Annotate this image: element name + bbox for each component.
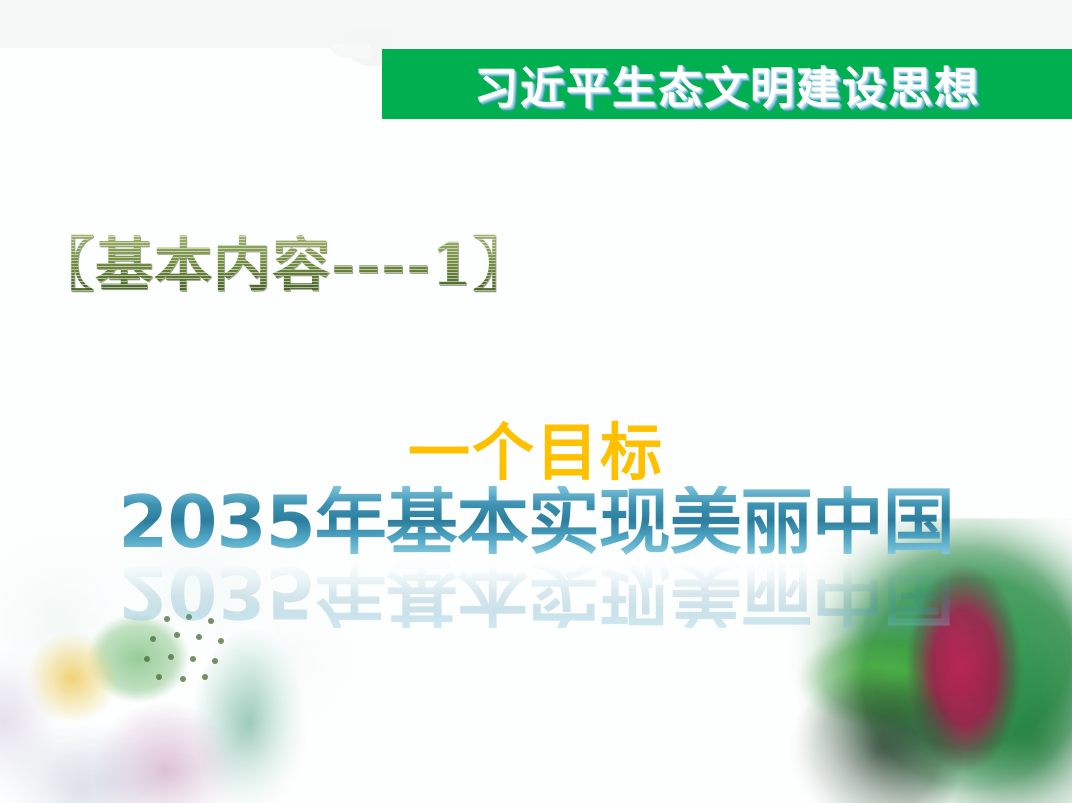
top-grey-band-bump-secondary: [330, 44, 370, 58]
main-title-text: 2035年基本实现美丽中国: [118, 486, 953, 558]
top-grey-band: [0, 0, 1072, 48]
main-title-reflection: 2035年基本实现美丽中国: [0, 556, 1072, 628]
header-banner: 习近平生态文明建设思想: [382, 49, 1072, 119]
main-title: 2035年基本实现美丽中国: [0, 486, 1072, 558]
main-title-reflection-text: 2035年基本实现美丽中国: [118, 556, 953, 628]
goal-label: 一个目标: [0, 402, 1072, 492]
lotus-seedpod-dots: [130, 606, 240, 698]
presentation-slide: 习近平生态文明建设思想 〖基本内容----1〗 一个目标 2035年基本实现美丽…: [0, 0, 1072, 803]
banner-title: 习近平生态文明建设思想: [474, 52, 980, 116]
section-heading: 〖基本内容----1〗: [36, 218, 532, 302]
